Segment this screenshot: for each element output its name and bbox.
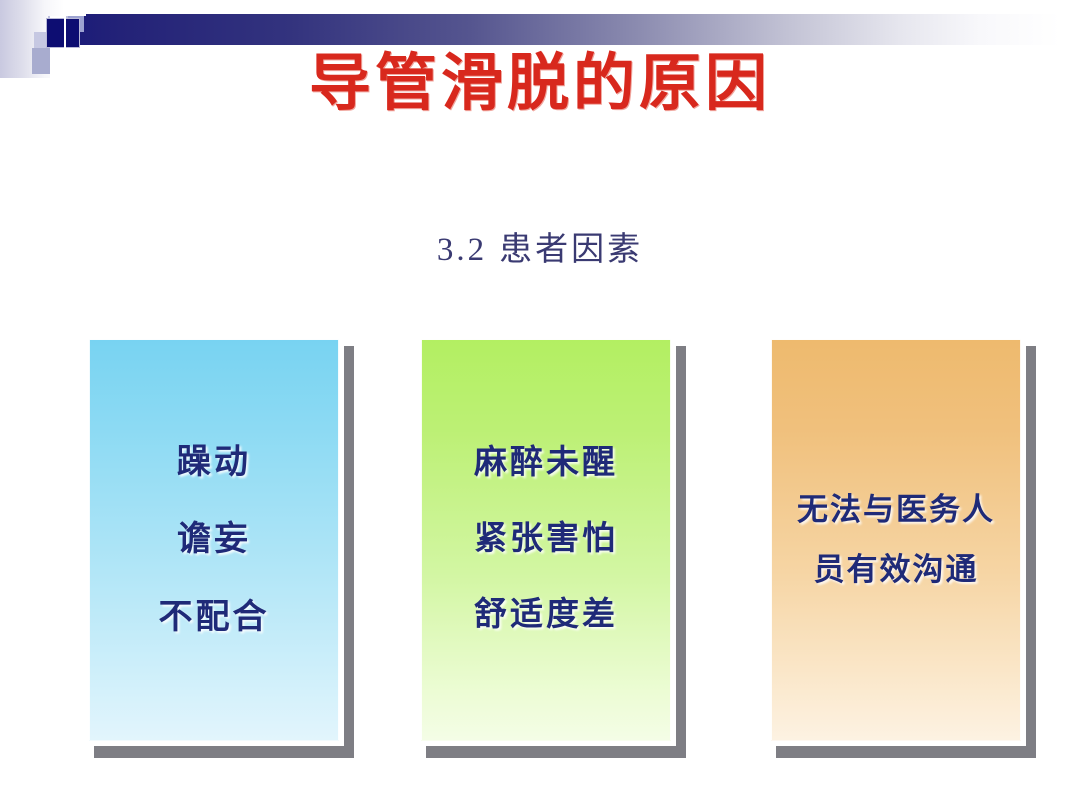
card-text-stack: 麻醉未醒 紧张害怕 舒适度差 [422, 445, 670, 635]
page-title: 导管滑脱的原因 [0, 50, 1080, 118]
card-line: 紧张害怕 [474, 521, 618, 559]
card-line: 无法与医务人 [797, 492, 995, 528]
subtitle-number: 3.2 [437, 232, 487, 268]
subtitle-label: 患者因素 [499, 232, 643, 268]
card-line: 谵妄 [177, 520, 251, 559]
section-subtitle: 3.2患者因素 [0, 222, 1080, 270]
deco-white-topgap [66, 0, 86, 16]
card-frame: 无法与医务人 员有效沟通 [766, 334, 1026, 746]
deco-square-navy [46, 18, 80, 48]
card-line: 员有效沟通 [814, 552, 979, 588]
patient-anesthesia-box[interactable]: 麻醉未醒 紧张害怕 舒适度差 [416, 334, 676, 746]
card-frame: 麻醉未醒 紧张害怕 舒适度差 [416, 334, 676, 746]
patient-communication-box[interactable]: 无法与医务人 员有效沟通 [766, 334, 1026, 746]
card-line: 躁动 [177, 443, 251, 482]
card-text-stack: 躁动 谵妄 不配合 [90, 443, 338, 636]
card-body: 麻醉未醒 紧张害怕 舒适度差 [421, 339, 671, 741]
patient-agitation-box[interactable]: 躁动 谵妄 不配合 [84, 334, 344, 746]
header-gradient-bar [0, 14, 1080, 45]
card-text-stack: 无法与医务人 员有效沟通 [772, 492, 1020, 587]
slide-canvas: 导管滑脱的原因 3.2患者因素 躁动 谵妄 不配合 [0, 0, 1080, 810]
card-line: 不配合 [159, 598, 270, 637]
card-line: 麻醉未醒 [474, 445, 618, 483]
card-body: 无法与医务人 员有效沟通 [771, 339, 1021, 741]
factor-card-row: 躁动 谵妄 不配合 麻醉未醒 紧张害怕 舒适度差 [0, 334, 1080, 764]
card-frame: 躁动 谵妄 不配合 [84, 334, 344, 746]
card-line: 舒适度差 [474, 597, 618, 635]
card-body: 躁动 谵妄 不配合 [89, 339, 339, 741]
